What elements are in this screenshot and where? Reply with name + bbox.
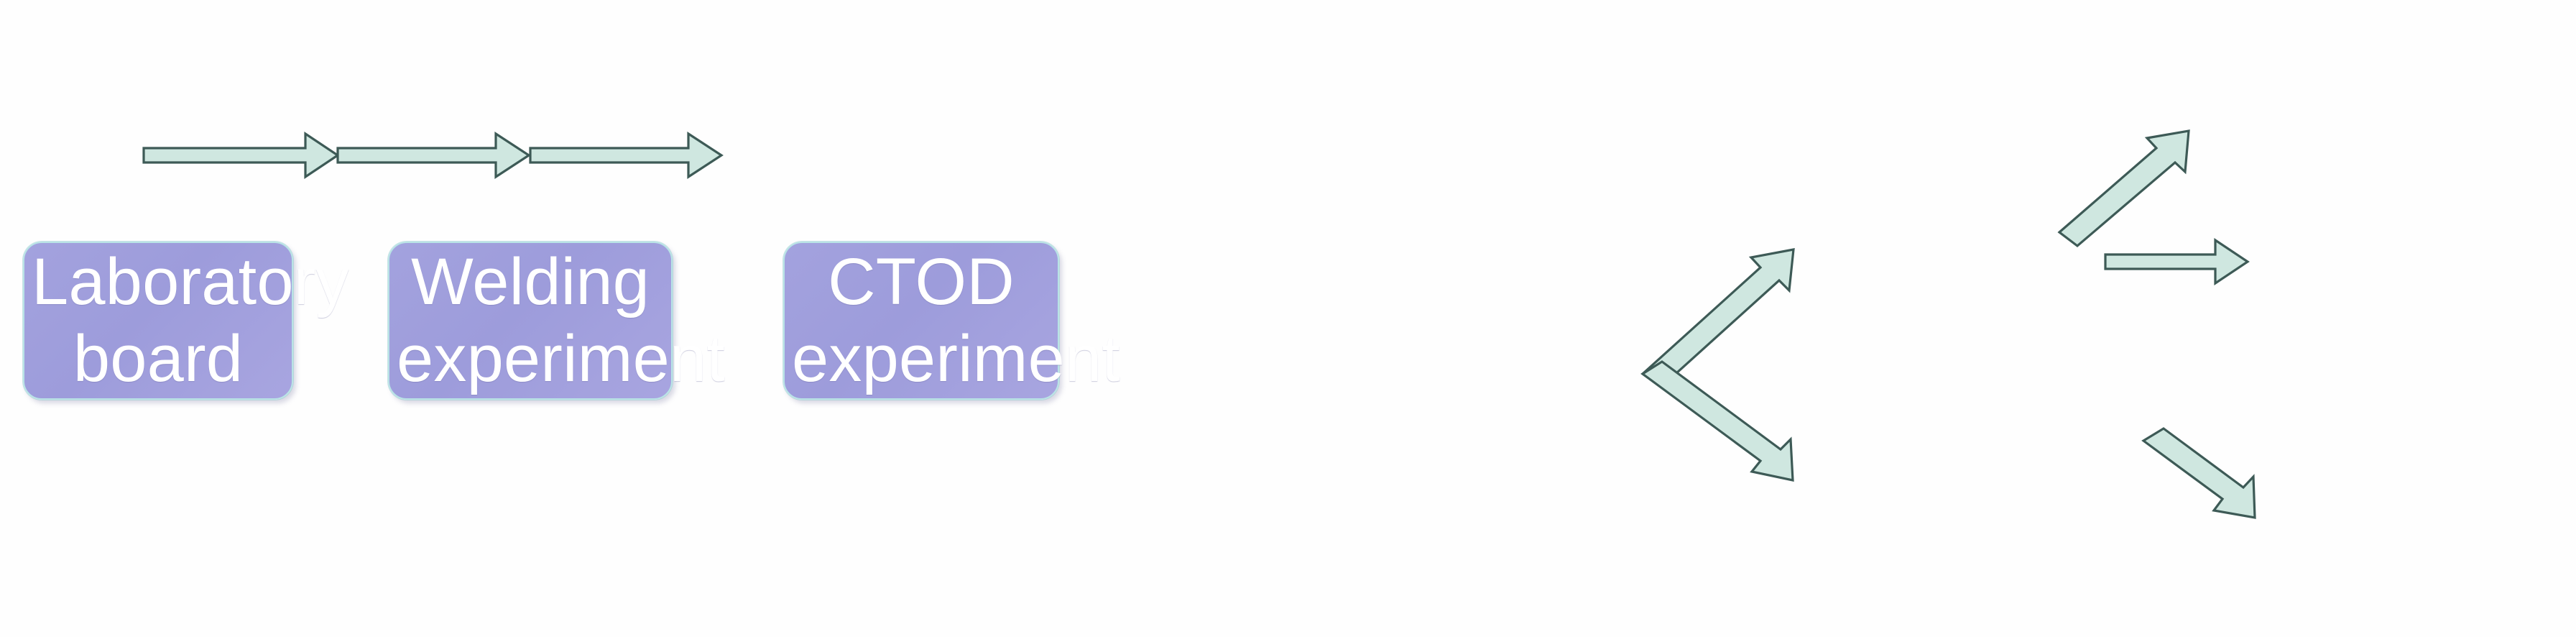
arrow-microstructure-to-crack xyxy=(2059,131,2189,246)
arrow-nanoindentation-to-confirm xyxy=(2143,429,2255,518)
node-label-welding-experiment: Welding experiment xyxy=(397,244,664,397)
arrow-fracture-to-nanoindentation xyxy=(1643,362,1793,480)
node-laboratory-board[interactable]: Laboratory board xyxy=(23,242,293,400)
node-label-ctod-experiment: CTOD experiment xyxy=(792,244,1051,397)
arrow-lab-to-welding xyxy=(144,134,338,177)
arrow-microstructure-to-weld xyxy=(2105,240,2248,283)
arrow-fracture-to-microstructure xyxy=(1643,249,1793,387)
node-welding-experiment[interactable]: Welding experiment xyxy=(388,242,673,400)
connector-layer xyxy=(0,0,2576,637)
flowchart-canvas: Laboratory board Welding experiment CTOD… xyxy=(0,0,2576,637)
node-ctod-experiment[interactable]: CTOD experiment xyxy=(783,242,1059,400)
node-label-laboratory-board: Laboratory board xyxy=(32,244,285,397)
arrow-ctod-to-fracture xyxy=(530,134,721,177)
arrow-welding-to-ctod xyxy=(338,134,529,177)
